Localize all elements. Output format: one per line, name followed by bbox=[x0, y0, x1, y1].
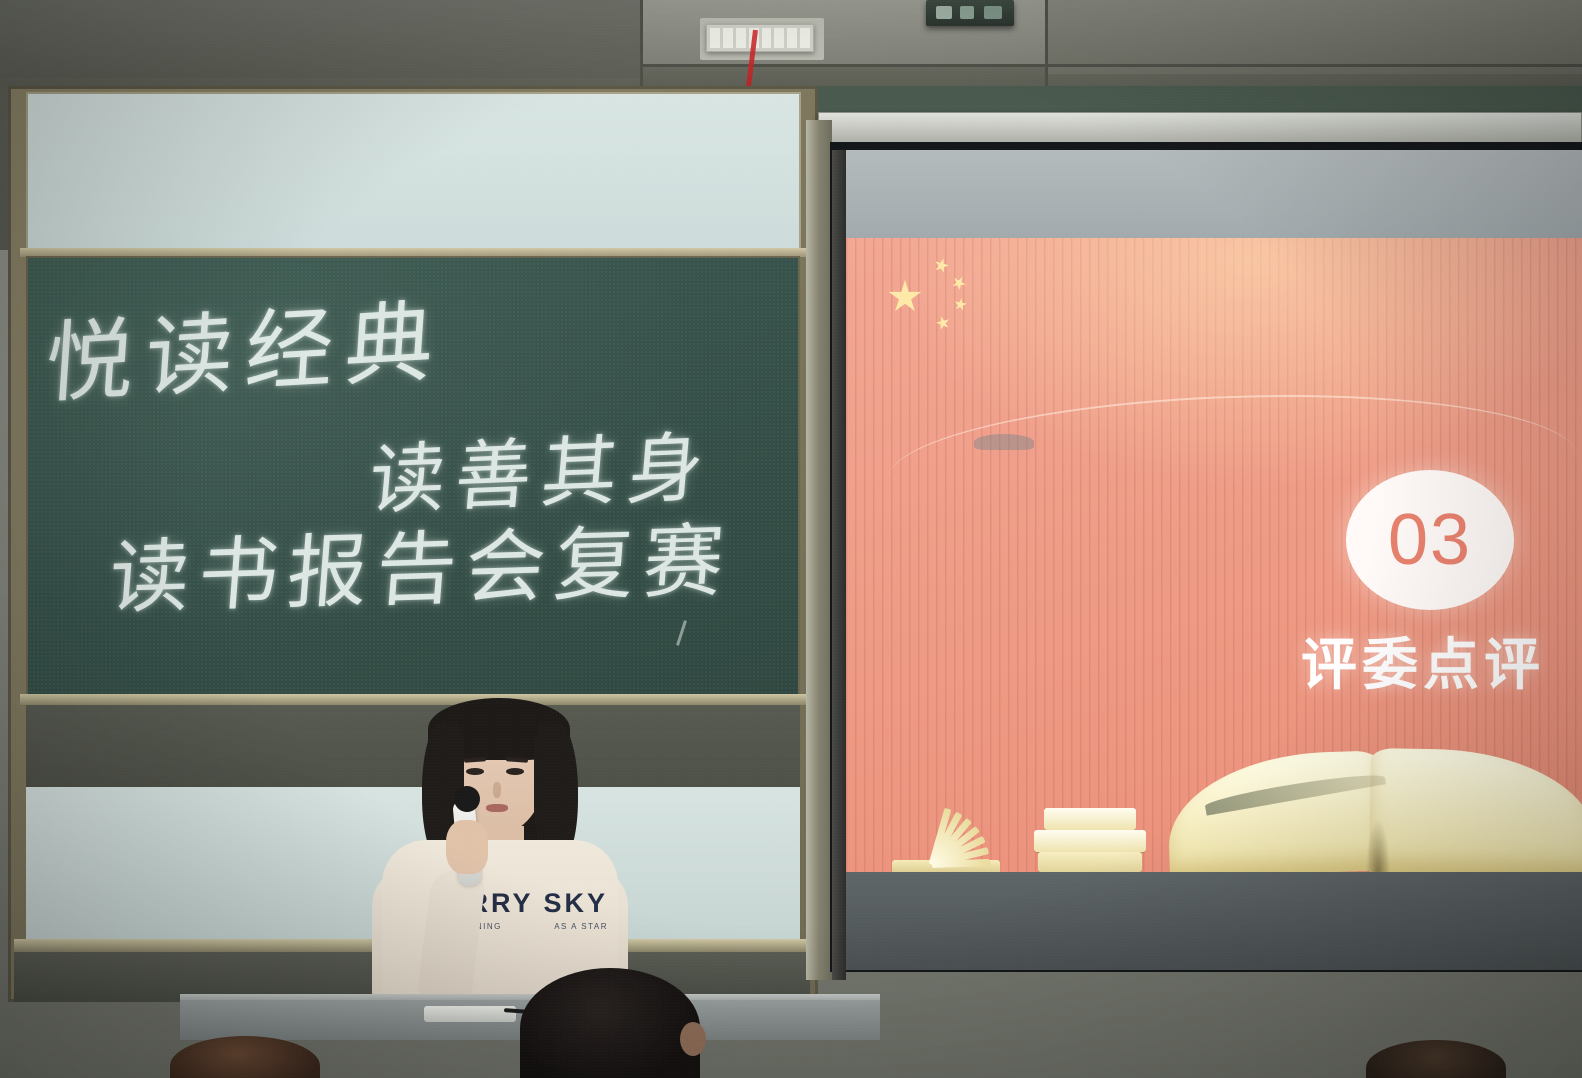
presenter-mouth bbox=[486, 804, 508, 812]
star-small-icon bbox=[953, 297, 968, 312]
stacked-books-icon bbox=[1034, 808, 1152, 872]
star-small-icon bbox=[949, 273, 968, 292]
audience-head bbox=[520, 968, 700, 1078]
projection-screen: 03 评委点评 bbox=[846, 150, 1582, 970]
screen-blank-bottom bbox=[846, 872, 1582, 970]
podium-object bbox=[424, 1006, 516, 1022]
classroom-scene: 悦读经典 读善其身 读书报告会复赛 03 评委点评 bbox=[0, 0, 1582, 1078]
book-layer bbox=[1034, 830, 1146, 852]
blackboard-top-panel bbox=[26, 92, 801, 250]
screen-housing bbox=[818, 112, 1582, 146]
sweatshirt-sub-right: AS A STAR bbox=[554, 922, 608, 931]
star-small-icon bbox=[932, 256, 951, 275]
screen-blank-top bbox=[846, 150, 1582, 238]
projector-lens bbox=[960, 6, 974, 19]
slide-title: 评委点评 bbox=[1298, 620, 1548, 701]
presenter-hand bbox=[446, 820, 488, 874]
open-book-spine bbox=[1366, 820, 1390, 874]
slide-number-badge: 03 bbox=[1346, 470, 1514, 610]
open-book-left-page bbox=[1166, 750, 1384, 874]
ceiling-tile-left bbox=[0, 0, 640, 78]
flag-stars-icon bbox=[884, 256, 1004, 332]
audience-ear bbox=[680, 1022, 706, 1056]
presenter-eye bbox=[466, 768, 484, 775]
ceiling-tile-right bbox=[1045, 0, 1582, 74]
projector-lens bbox=[936, 6, 952, 19]
presenter-eye bbox=[506, 768, 524, 775]
chalk-headline-1: 悦读经典 bbox=[42, 270, 450, 420]
open-book-right-page bbox=[1369, 748, 1582, 874]
sweatshirt-sub-text: SHINING AS A STAR bbox=[458, 922, 608, 931]
screen-left-post bbox=[806, 120, 832, 980]
slide-number-text: 03 bbox=[1388, 499, 1472, 581]
book-layer bbox=[1044, 808, 1136, 830]
star-small-icon bbox=[935, 315, 952, 332]
star-large-icon bbox=[888, 280, 922, 314]
ceiling-seam bbox=[640, 0, 643, 96]
book-layer bbox=[1038, 852, 1142, 872]
presenter-nose bbox=[493, 782, 501, 798]
presentation-slide: 03 评委点评 bbox=[846, 238, 1582, 874]
projector-lens bbox=[984, 6, 1002, 19]
fanned-book-icon bbox=[882, 794, 1002, 874]
open-book-icon bbox=[1168, 746, 1582, 874]
slide-hill-shape bbox=[974, 434, 1034, 450]
ceiling-seam bbox=[1045, 0, 1048, 96]
ceiling-projector-icon bbox=[926, 0, 1014, 26]
ceiling-seam bbox=[640, 64, 1582, 67]
chalk-headline-3: 读书报告会复赛 bbox=[106, 496, 738, 630]
screen-left-shadow bbox=[832, 150, 846, 980]
air-vent-icon bbox=[706, 24, 814, 52]
